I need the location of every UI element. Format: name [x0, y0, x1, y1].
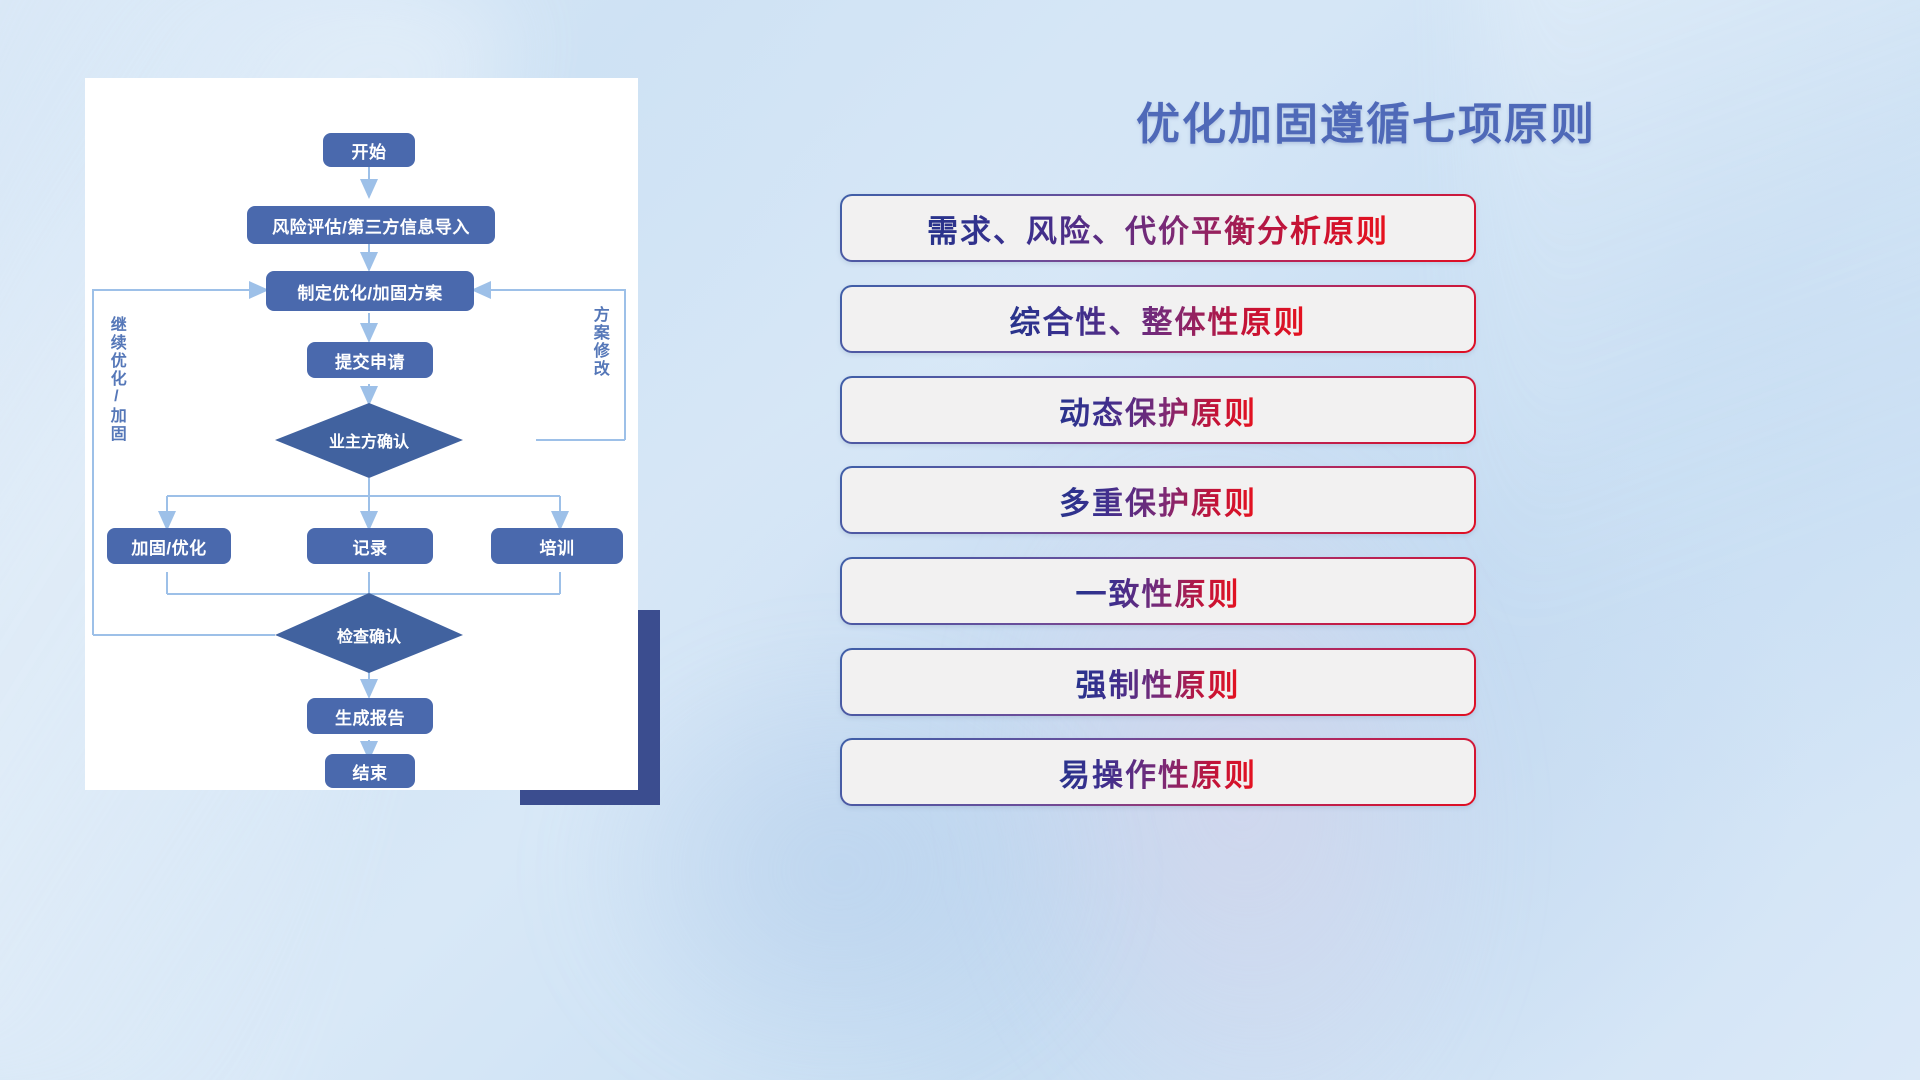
flow-node-report[interactable]: 生成报告	[307, 698, 433, 734]
principle-label: 一致性原则	[1076, 569, 1241, 614]
flow-node-label: 生成报告	[335, 704, 405, 729]
flowchart-connectors	[85, 78, 638, 790]
flow-node-label: 培训	[540, 534, 575, 559]
principle-label: 动态保护原则	[1059, 388, 1257, 433]
flow-node-end[interactable]: 结束	[325, 754, 415, 788]
flow-node-record[interactable]: 记录	[307, 528, 433, 564]
flow-node-training[interactable]: 培训	[491, 528, 623, 564]
flow-node-label: 风险评估/第三方信息导入	[272, 213, 470, 238]
principle-label: 综合性、整体性原则	[1010, 297, 1307, 342]
principle-card-1[interactable]: 需求、风险、代价平衡分析原则	[840, 194, 1476, 262]
principle-label: 需求、风险、代价平衡分析原则	[927, 206, 1389, 251]
principle-card-7[interactable]: 易操作性原则	[840, 738, 1476, 806]
flow-node-risk[interactable]: 风险评估/第三方信息导入	[247, 206, 495, 244]
principle-card-3[interactable]: 动态保护原则	[840, 376, 1476, 444]
flow-node-label: 提交申请	[335, 348, 405, 373]
slide-root: 开始 风险评估/第三方信息导入 制定优化/加固方案 提交申请 加固/优化 记录 …	[0, 0, 1920, 1080]
edge-label-plan-revision: 方案修改	[590, 306, 607, 396]
flow-node-submit[interactable]: 提交申请	[307, 342, 433, 378]
flow-node-start[interactable]: 开始	[323, 133, 415, 167]
principle-card-4[interactable]: 多重保护原则	[840, 466, 1476, 534]
principle-card-5[interactable]: 一致性原则	[840, 557, 1476, 625]
edge-label-text: 方案修改	[591, 306, 608, 378]
flow-node-label: 记录	[353, 534, 388, 559]
principle-label: 多重保护原则	[1059, 478, 1257, 523]
principles-column: 优化加固遵循七项原则 需求、风险、代价平衡分析原则 综合性、整体性原则 动态保护…	[836, 0, 1896, 1080]
flow-node-reinforce[interactable]: 加固/优化	[107, 528, 231, 564]
edge-label-text: 继续优化/加固	[108, 316, 125, 443]
flow-node-plan[interactable]: 制定优化/加固方案	[266, 271, 474, 311]
flowchart-panel: 开始 风险评估/第三方信息导入 制定优化/加固方案 提交申请 加固/优化 记录 …	[85, 78, 638, 790]
principle-label: 易操作性原则	[1059, 750, 1257, 795]
flow-node-label: 加固/优化	[131, 534, 206, 559]
decision-check-confirm[interactable]	[275, 593, 463, 673]
principle-card-6[interactable]: 强制性原则	[840, 648, 1476, 716]
page-title: 优化加固遵循七项原则	[836, 88, 1896, 152]
edge-label-continue-optimize: 继续优化/加固	[107, 316, 124, 446]
flow-node-label: 开始	[352, 138, 387, 163]
decision-owner-confirm[interactable]	[275, 403, 463, 478]
flow-node-label: 结束	[353, 759, 388, 784]
principle-label: 强制性原则	[1076, 660, 1241, 705]
principle-card-2[interactable]: 综合性、整体性原则	[840, 285, 1476, 353]
flow-node-label: 制定优化/加固方案	[297, 279, 442, 304]
